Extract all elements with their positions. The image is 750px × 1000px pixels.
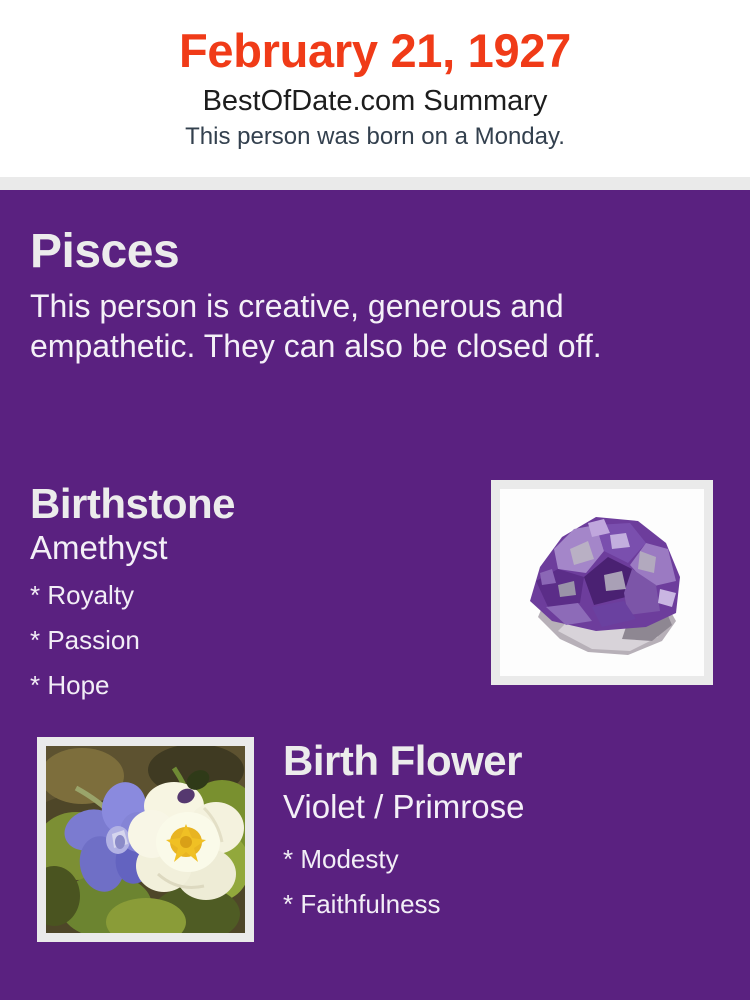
site-subtitle: BestOfDate.com Summary bbox=[0, 82, 750, 120]
birth-flower-name: Violet / Primrose bbox=[283, 786, 723, 827]
birthstone-name: Amethyst bbox=[30, 528, 470, 568]
list-item: * Passion bbox=[30, 618, 470, 663]
violet-primrose-flower-icon bbox=[46, 746, 245, 933]
birthstone-photo-frame bbox=[491, 480, 713, 685]
birth-day-note: This person was born on a Monday. bbox=[0, 121, 750, 153]
birth-flower-section: Birth Flower Violet / Primrose * Modesty… bbox=[283, 735, 723, 927]
birthstone-heading: Birthstone bbox=[30, 479, 470, 529]
page-title: February 21, 1927 bbox=[0, 22, 750, 79]
list-item: * Faithfulness bbox=[283, 882, 723, 927]
birthstone-photo bbox=[500, 489, 704, 676]
birthstone-section: Birthstone Amethyst * Royalty * Passion … bbox=[30, 479, 470, 708]
zodiac-section: Pisces This person is creative, generous… bbox=[30, 224, 720, 366]
birth-flower-traits-list: * Modesty * Faithfulness bbox=[283, 837, 723, 927]
zodiac-description: This person is creative, generous and em… bbox=[30, 286, 702, 366]
zodiac-sign-heading: Pisces bbox=[30, 224, 720, 280]
summary-card: February 21, 1927 BestOfDate.com Summary… bbox=[0, 0, 750, 1000]
header: February 21, 1927 BestOfDate.com Summary… bbox=[0, 0, 750, 177]
list-item: * Modesty bbox=[283, 837, 723, 882]
list-item: * Hope bbox=[30, 663, 470, 708]
birth-flower-photo-frame bbox=[37, 737, 254, 942]
list-item: * Royalty bbox=[30, 573, 470, 618]
birth-flower-photo bbox=[46, 746, 245, 933]
birthstone-traits-list: * Royalty * Passion * Hope bbox=[30, 573, 470, 708]
amethyst-crystal-icon bbox=[500, 489, 704, 676]
header-divider bbox=[0, 177, 750, 190]
birth-flower-heading: Birth Flower bbox=[283, 735, 723, 787]
